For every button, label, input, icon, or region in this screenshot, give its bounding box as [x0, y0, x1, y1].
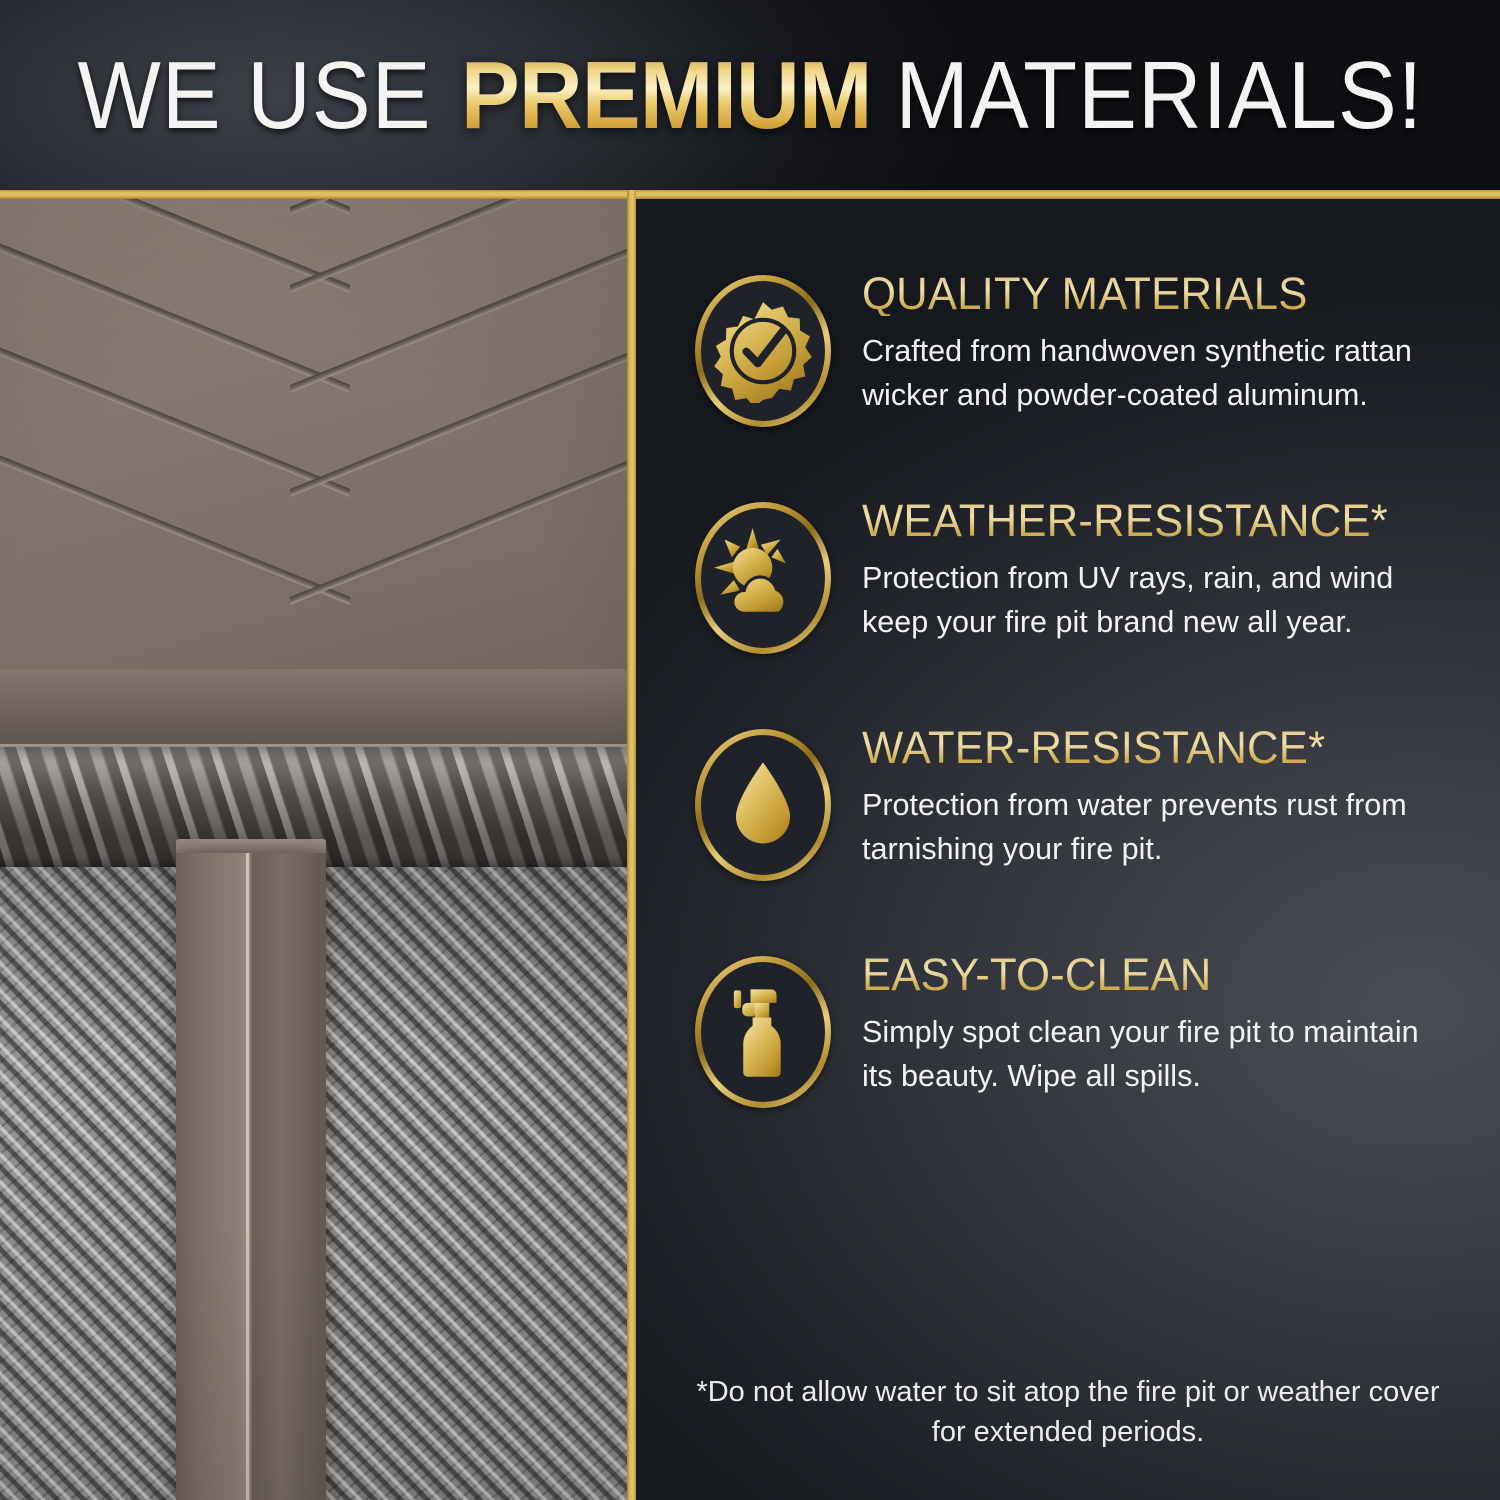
features-panel: QUALITY MATERIALS Crafted from handwoven… — [636, 199, 1500, 1500]
water-drop-icon — [688, 727, 838, 877]
table-apron — [0, 669, 628, 749]
header-title: WE USE PREMIUM MATERIALS! — [77, 41, 1423, 151]
feature-text: WATER-RESISTANCE* Protection from water … — [838, 723, 1466, 871]
table-slat-groove — [0, 207, 628, 217]
feature-description: Simply spot clean your fire pit to maint… — [862, 1010, 1457, 1098]
table-slat-groove — [0, 597, 628, 607]
feature-item: QUALITY MATERIALS Crafted from handwoven… — [636, 269, 1500, 423]
feature-description: Protection from water prevents rust from… — [862, 783, 1457, 871]
feature-item: WEATHER-RESISTANCE* Protection from UV r… — [636, 496, 1500, 650]
header-text-after: MATERIALS! — [895, 41, 1423, 151]
gold-divider-horizontal — [0, 190, 1500, 199]
sun-cloud-icon — [688, 500, 838, 650]
feature-title: EASY-TO-CLEAN — [862, 952, 1448, 997]
feature-description: Crafted from handwoven synthetic rattan … — [862, 329, 1457, 417]
feature-item: WATER-RESISTANCE* Protection from water … — [636, 723, 1500, 877]
feature-text: EASY-TO-CLEAN Simply spot clean your fir… — [838, 950, 1466, 1098]
features-list: QUALITY MATERIALS Crafted from handwoven… — [636, 269, 1500, 1177]
spray-bottle-glyph — [711, 980, 815, 1084]
sun-cloud-glyph — [711, 526, 815, 630]
aluminum-leg-highlight — [246, 853, 249, 1500]
quality-badge-glyph — [711, 299, 815, 403]
quality-badge-icon — [688, 273, 838, 423]
header-banner: WE USE PREMIUM MATERIALS! — [0, 0, 1500, 192]
product-photo — [0, 199, 628, 1500]
header-text-before: WE USE — [77, 41, 431, 151]
infographic-root: WE USE PREMIUM MATERIALS! — [0, 0, 1500, 1500]
feature-title: QUALITY MATERIALS — [862, 271, 1448, 316]
feature-text: WEATHER-RESISTANCE* Protection from UV r… — [838, 496, 1466, 644]
feature-item: EASY-TO-CLEAN Simply spot clean your fir… — [636, 950, 1500, 1104]
aluminum-corner-leg — [176, 853, 326, 1500]
feature-text: QUALITY MATERIALS Crafted from handwoven… — [838, 269, 1466, 417]
water-drop-glyph — [711, 753, 815, 857]
footnote-disclaimer: *Do not allow water to sit atop the fire… — [636, 1372, 1500, 1452]
feature-title: WEATHER-RESISTANCE* — [862, 498, 1448, 543]
header-text-accent: PREMIUM — [455, 41, 877, 151]
spray-bottle-icon — [688, 954, 838, 1104]
feature-title: WATER-RESISTANCE* — [862, 725, 1448, 770]
table-top-surface — [0, 199, 628, 709]
gold-divider-vertical — [627, 190, 636, 1500]
feature-description: Protection from UV rays, rain, and wind … — [862, 556, 1457, 644]
